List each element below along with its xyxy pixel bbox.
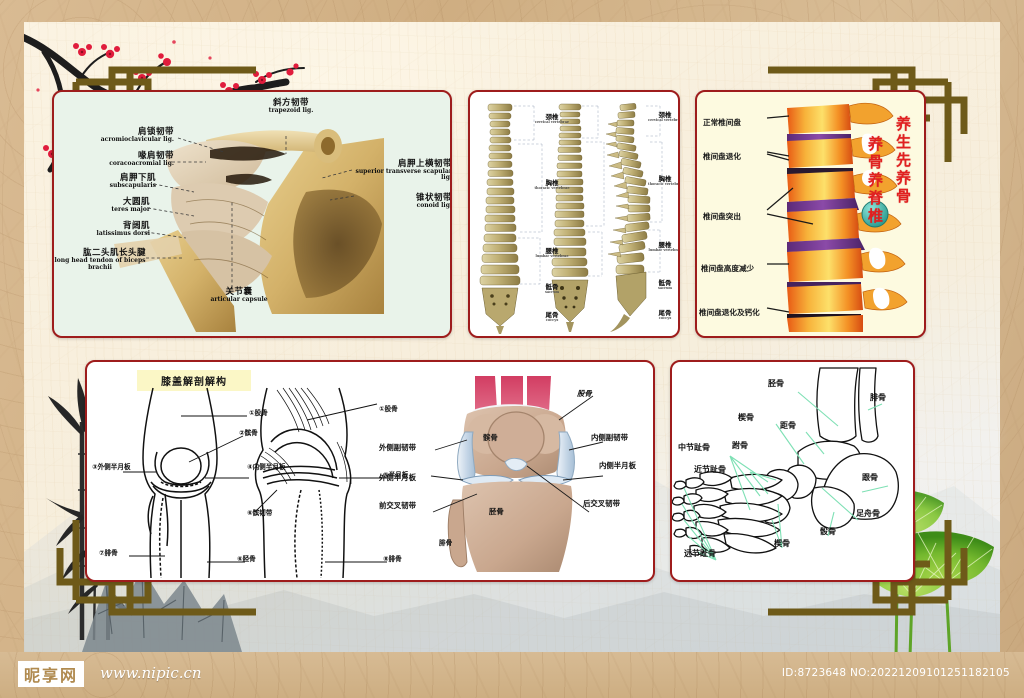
spine-label-cervical-left: 颈椎 cervical vertebrae [532, 114, 572, 124]
knee-color-label-medial-meniscus: 内侧半月板 [599, 462, 636, 470]
knee-color-label-medial-collateral: 内侧副韧带 [591, 434, 628, 442]
foot-label-tibia: 胫骨 [768, 380, 784, 388]
knee-line-drawing [95, 386, 395, 580]
spine-label-thoracic-right: 胸椎 thoracic vertebrae [648, 176, 680, 186]
shoulder-label-subscapularis: 肩胛下肌 subscapularis [58, 174, 156, 189]
foot-label-proximal-phalanx: 近节趾骨 [694, 466, 726, 474]
spine-label-lumbar-right: 腰椎 lumbar vertebrae [648, 242, 680, 252]
poster-canvas: 斜方韧带 trapezoid lig. 肩锁韧带 acromioclavicul… [0, 0, 1024, 698]
foot-label-distal-phalanx: 远节趾骨 [684, 550, 716, 558]
knee-color-label-pcl: 后交叉韧带 [583, 500, 620, 508]
lumbar-label-disc-calcification: 椎间盘退化及钙化 [699, 302, 760, 319]
spine-label-coccyx-right: 尾骨 coccyx [648, 310, 680, 320]
foot-label-cuneiform-top: 楔骨 [738, 414, 754, 422]
foot-label-talus: 距骨 [780, 422, 796, 430]
knee-label-femur-2: ①股骨 [379, 406, 398, 413]
panel-knee-anatomy: 膝盖解剖解构 [85, 360, 655, 582]
knee-color-label-fibula: 腓骨 [439, 540, 452, 547]
watermark-bar: 昵享网 www.nipic.cn ID:8723648 NO:202212091… [0, 652, 1024, 698]
spine-illustration [470, 92, 678, 335]
site-logo: 昵享网 [18, 661, 84, 687]
knee-color-label-femur: 股骨 [577, 390, 592, 398]
spine-label-coccyx-left: 尾骨 coccyx [532, 312, 572, 322]
knee-color-label-lateral-meniscus: 外侧半月板 [379, 474, 416, 482]
lumbar-label-normal-disc: 正常椎间盘 [703, 112, 741, 129]
lumbar-label-disc-height-loss: 椎间盘高度减少 [701, 258, 754, 275]
knee-label-fibula-2: ⑧腓骨 [383, 556, 402, 563]
calligraphy-line-1: 养生先养骨 [893, 116, 914, 256]
shoulder-label-latissimus-dorsi: 背阔肌 latissimus dorsi [58, 222, 150, 237]
site-url: www.nipic.cn [100, 664, 202, 682]
knee-color-label-lateral-collateral: 外侧副韧带 [379, 444, 416, 452]
knee-label-medial-meniscus: ④内侧半月板 [247, 464, 293, 472]
knee-label-patellar-ligament: ⑥髌韧带 [247, 510, 272, 517]
knee-label-tibia-1: ⑥胫骨 [237, 556, 256, 563]
foot-label-fibula: 腓骨 [870, 394, 886, 402]
foot-label-calcaneus: 跟骨 [862, 474, 878, 482]
foot-label-navicular: 足舟骨 [856, 510, 880, 518]
shoulder-label-teres-major: 大圆肌 teres major [58, 198, 150, 213]
shoulder-label-superior-transverse-scapular: 肩胛上横韧带 superior transverse scapular lig. [354, 160, 452, 182]
knee-color-label-acl: 前交叉韧带 [379, 502, 416, 510]
spine-label-lumbar-left: 腰椎 lumbar vertebrae [532, 248, 572, 258]
panel-lumbar-disc-degeneration: 正常椎间盘 椎间盘退化 椎间盘突出 椎间盘高度减少 椎间盘退化及钙化 养生先养骨… [695, 90, 926, 338]
shoulder-label-biceps-long-head: 肱二头肌长头腱 long head tendon of biceps brach… [54, 249, 146, 272]
knee-color-label-patella: 髌骨 [483, 434, 498, 442]
shoulder-label-conoid: 锥状韧带 conoid lig. [358, 194, 452, 209]
shoulder-label-trapezoid: 斜方韧带 trapezoid lig. [246, 99, 336, 114]
lumbar-label-disc-herniation: 椎间盘突出 [703, 206, 741, 223]
poster-page: 斜方韧带 trapezoid lig. 肩锁韧带 acromioclavicul… [24, 22, 1000, 652]
knee-label-femur-1: ①股骨 [249, 410, 268, 417]
foot-label-middle-phalanx: 中节趾骨 [678, 444, 710, 452]
lumbar-label-disc-degeneration: 椎间盘退化 [703, 146, 741, 163]
knee-label-fibula-1: ⑦腓骨 [99, 550, 118, 557]
calligraphy-line-2: 养骨养脊椎 [865, 136, 886, 276]
knee-label-lateral-meniscus: ③外侧半月板 [92, 464, 138, 472]
spine-label-sacrum-left: 骶骨 sacrum [532, 284, 572, 294]
panel-foot-skeleton: 胫骨 腓骨 楔骨 距骨 中节趾骨 跗骨 近节趾骨 跟骨 足舟骨 骰骨 楔骨 远节… [670, 360, 915, 582]
spine-label-thoracic-left: 胸椎 thoracic vertebrae [532, 180, 572, 190]
knee-label-patella: ②髌骨 [239, 430, 258, 437]
shoulder-label-coracoacromial: 喙肩韧带 coracoacromial lig. [58, 152, 174, 167]
panel-shoulder-anatomy: 斜方韧带 trapezoid lig. 肩锁韧带 acromioclavicul… [52, 90, 452, 338]
image-id-text: ID:8723648 NO:20221209101251182105 [782, 667, 1010, 679]
shoulder-label-acromioclavicular: 肩锁韧带 acromioclavicular lig. [58, 128, 174, 143]
knee-color-label-tibia: 胫骨 [489, 508, 504, 516]
spine-view-lateral [606, 103, 650, 332]
foot-label-cuneiform-bottom: 楔骨 [774, 540, 790, 548]
panel-spine-columns: 颈椎 cervical vertebrae 胸椎 thoracic verteb… [468, 90, 680, 338]
foot-label-cuboid: 骰骨 [820, 528, 836, 536]
spine-view-anterior [480, 104, 520, 334]
spine-label-cervical-right: 颈椎 cervical vertebrae [648, 112, 680, 122]
shoulder-label-articular-capsule: 关节囊 articular capsule [194, 288, 284, 303]
foot-label-metatarsal: 跗骨 [732, 442, 748, 450]
spine-label-sacrum-right: 骶骨 sacrum [648, 280, 680, 290]
